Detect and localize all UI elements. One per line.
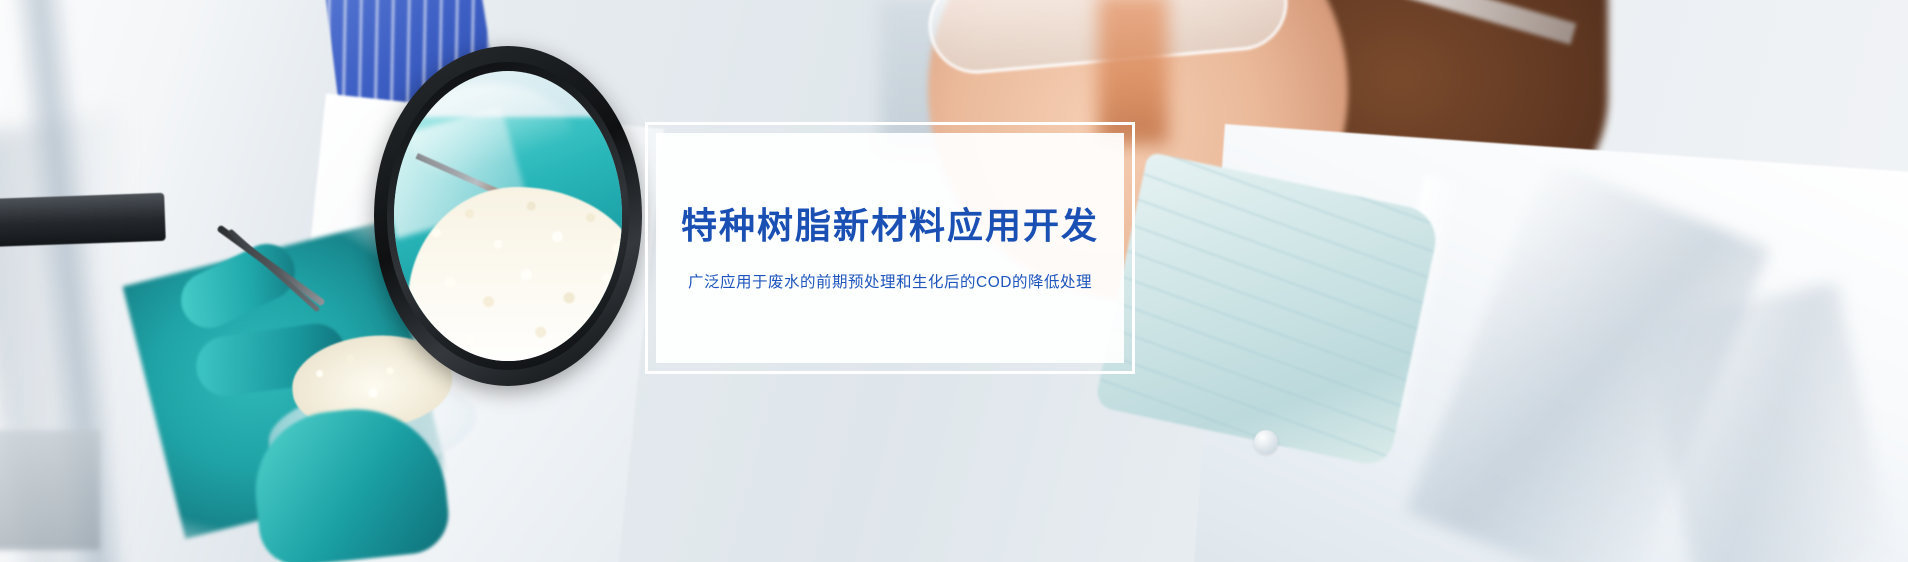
lens-glare	[408, 83, 572, 187]
banner-text-card-inner: 特种树脂新材料应用开发 广泛应用于废水的前期预处理和生化后的COD的降低处理	[656, 133, 1124, 363]
background-equipment	[0, 430, 100, 550]
lab-coat-button	[1254, 430, 1278, 454]
hero-banner: 特种树脂新材料应用开发 广泛应用于废水的前期预处理和生化后的COD的降低处理	[0, 0, 1908, 562]
banner-headline: 特种树脂新材料应用开发	[681, 204, 1099, 247]
magnifier-lens	[394, 71, 622, 361]
banner-text-card: 特种树脂新材料应用开发 广泛应用于废水的前期预处理和生化后的COD的降低处理	[645, 122, 1135, 374]
magnifying-glass	[374, 46, 642, 386]
banner-subline: 广泛应用于废水的前期预处理和生化后的COD的降低处理	[688, 270, 1092, 292]
dark-instrument-bar	[0, 193, 166, 247]
